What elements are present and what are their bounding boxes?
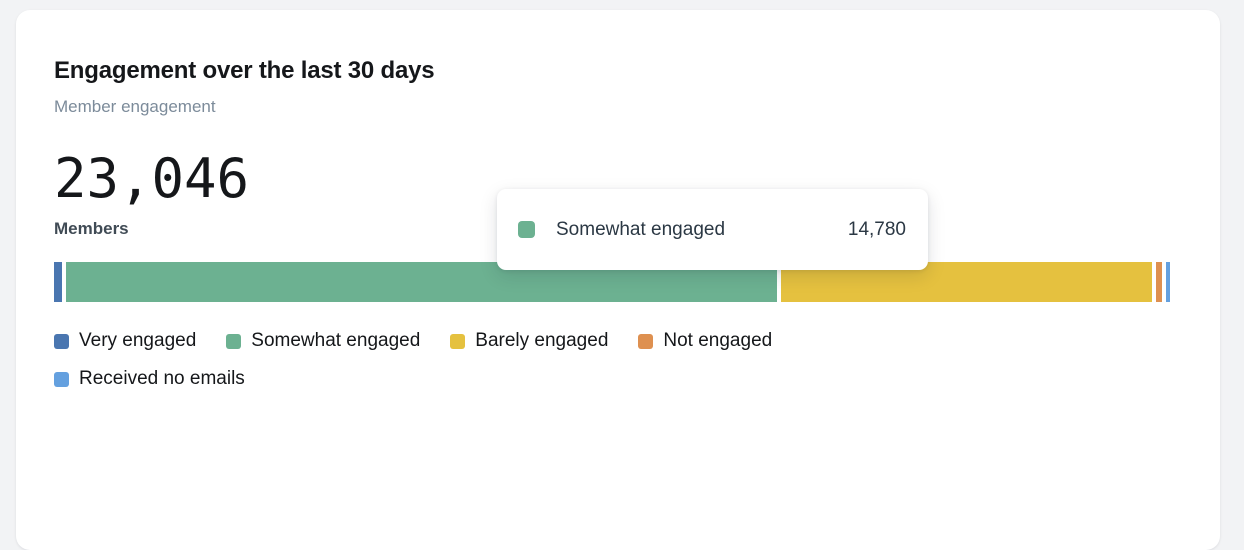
legend-color-swatch (54, 334, 69, 349)
engagement-card: Engagement over the last 30 days Member … (16, 10, 1220, 550)
legend-item-label: Somewhat engaged (251, 330, 420, 352)
legend-item-label: Barely engaged (475, 330, 608, 352)
legend-color-swatch (638, 334, 653, 349)
tooltip-label: Somewhat engaged (556, 219, 725, 241)
bar-segment[interactable] (1166, 262, 1170, 302)
card-content: Engagement over the last 30 days Member … (54, 56, 1196, 391)
legend-color-swatch (450, 334, 465, 349)
bar-segment[interactable] (1156, 262, 1166, 302)
legend-color-swatch (226, 334, 241, 349)
bar-segment[interactable] (54, 262, 66, 302)
tooltip-value: 14,780 (848, 219, 906, 241)
chart-tooltip: Somewhat engaged 14,780 (497, 189, 928, 270)
legend-item-label: Very engaged (79, 330, 196, 352)
card-subtitle: Member engagement (54, 96, 1196, 118)
stacked-bar-container: Somewhat engaged 14,780 (54, 262, 1196, 302)
legend-item[interactable]: Received no emails (54, 367, 245, 391)
legend-item[interactable]: Barely engaged (450, 329, 608, 353)
legend-item-label: Not engaged (663, 330, 772, 352)
page-title: Engagement over the last 30 days (54, 56, 1196, 86)
legend-color-swatch (54, 372, 69, 387)
legend-item-label: Received no emails (79, 368, 245, 390)
legend-item[interactable]: Very engaged (54, 329, 196, 353)
tooltip-color-swatch (518, 221, 535, 238)
legend-item[interactable]: Not engaged (638, 329, 772, 353)
chart-legend: Very engagedSomewhat engagedBarely engag… (54, 329, 1014, 391)
legend-item[interactable]: Somewhat engaged (226, 329, 420, 353)
